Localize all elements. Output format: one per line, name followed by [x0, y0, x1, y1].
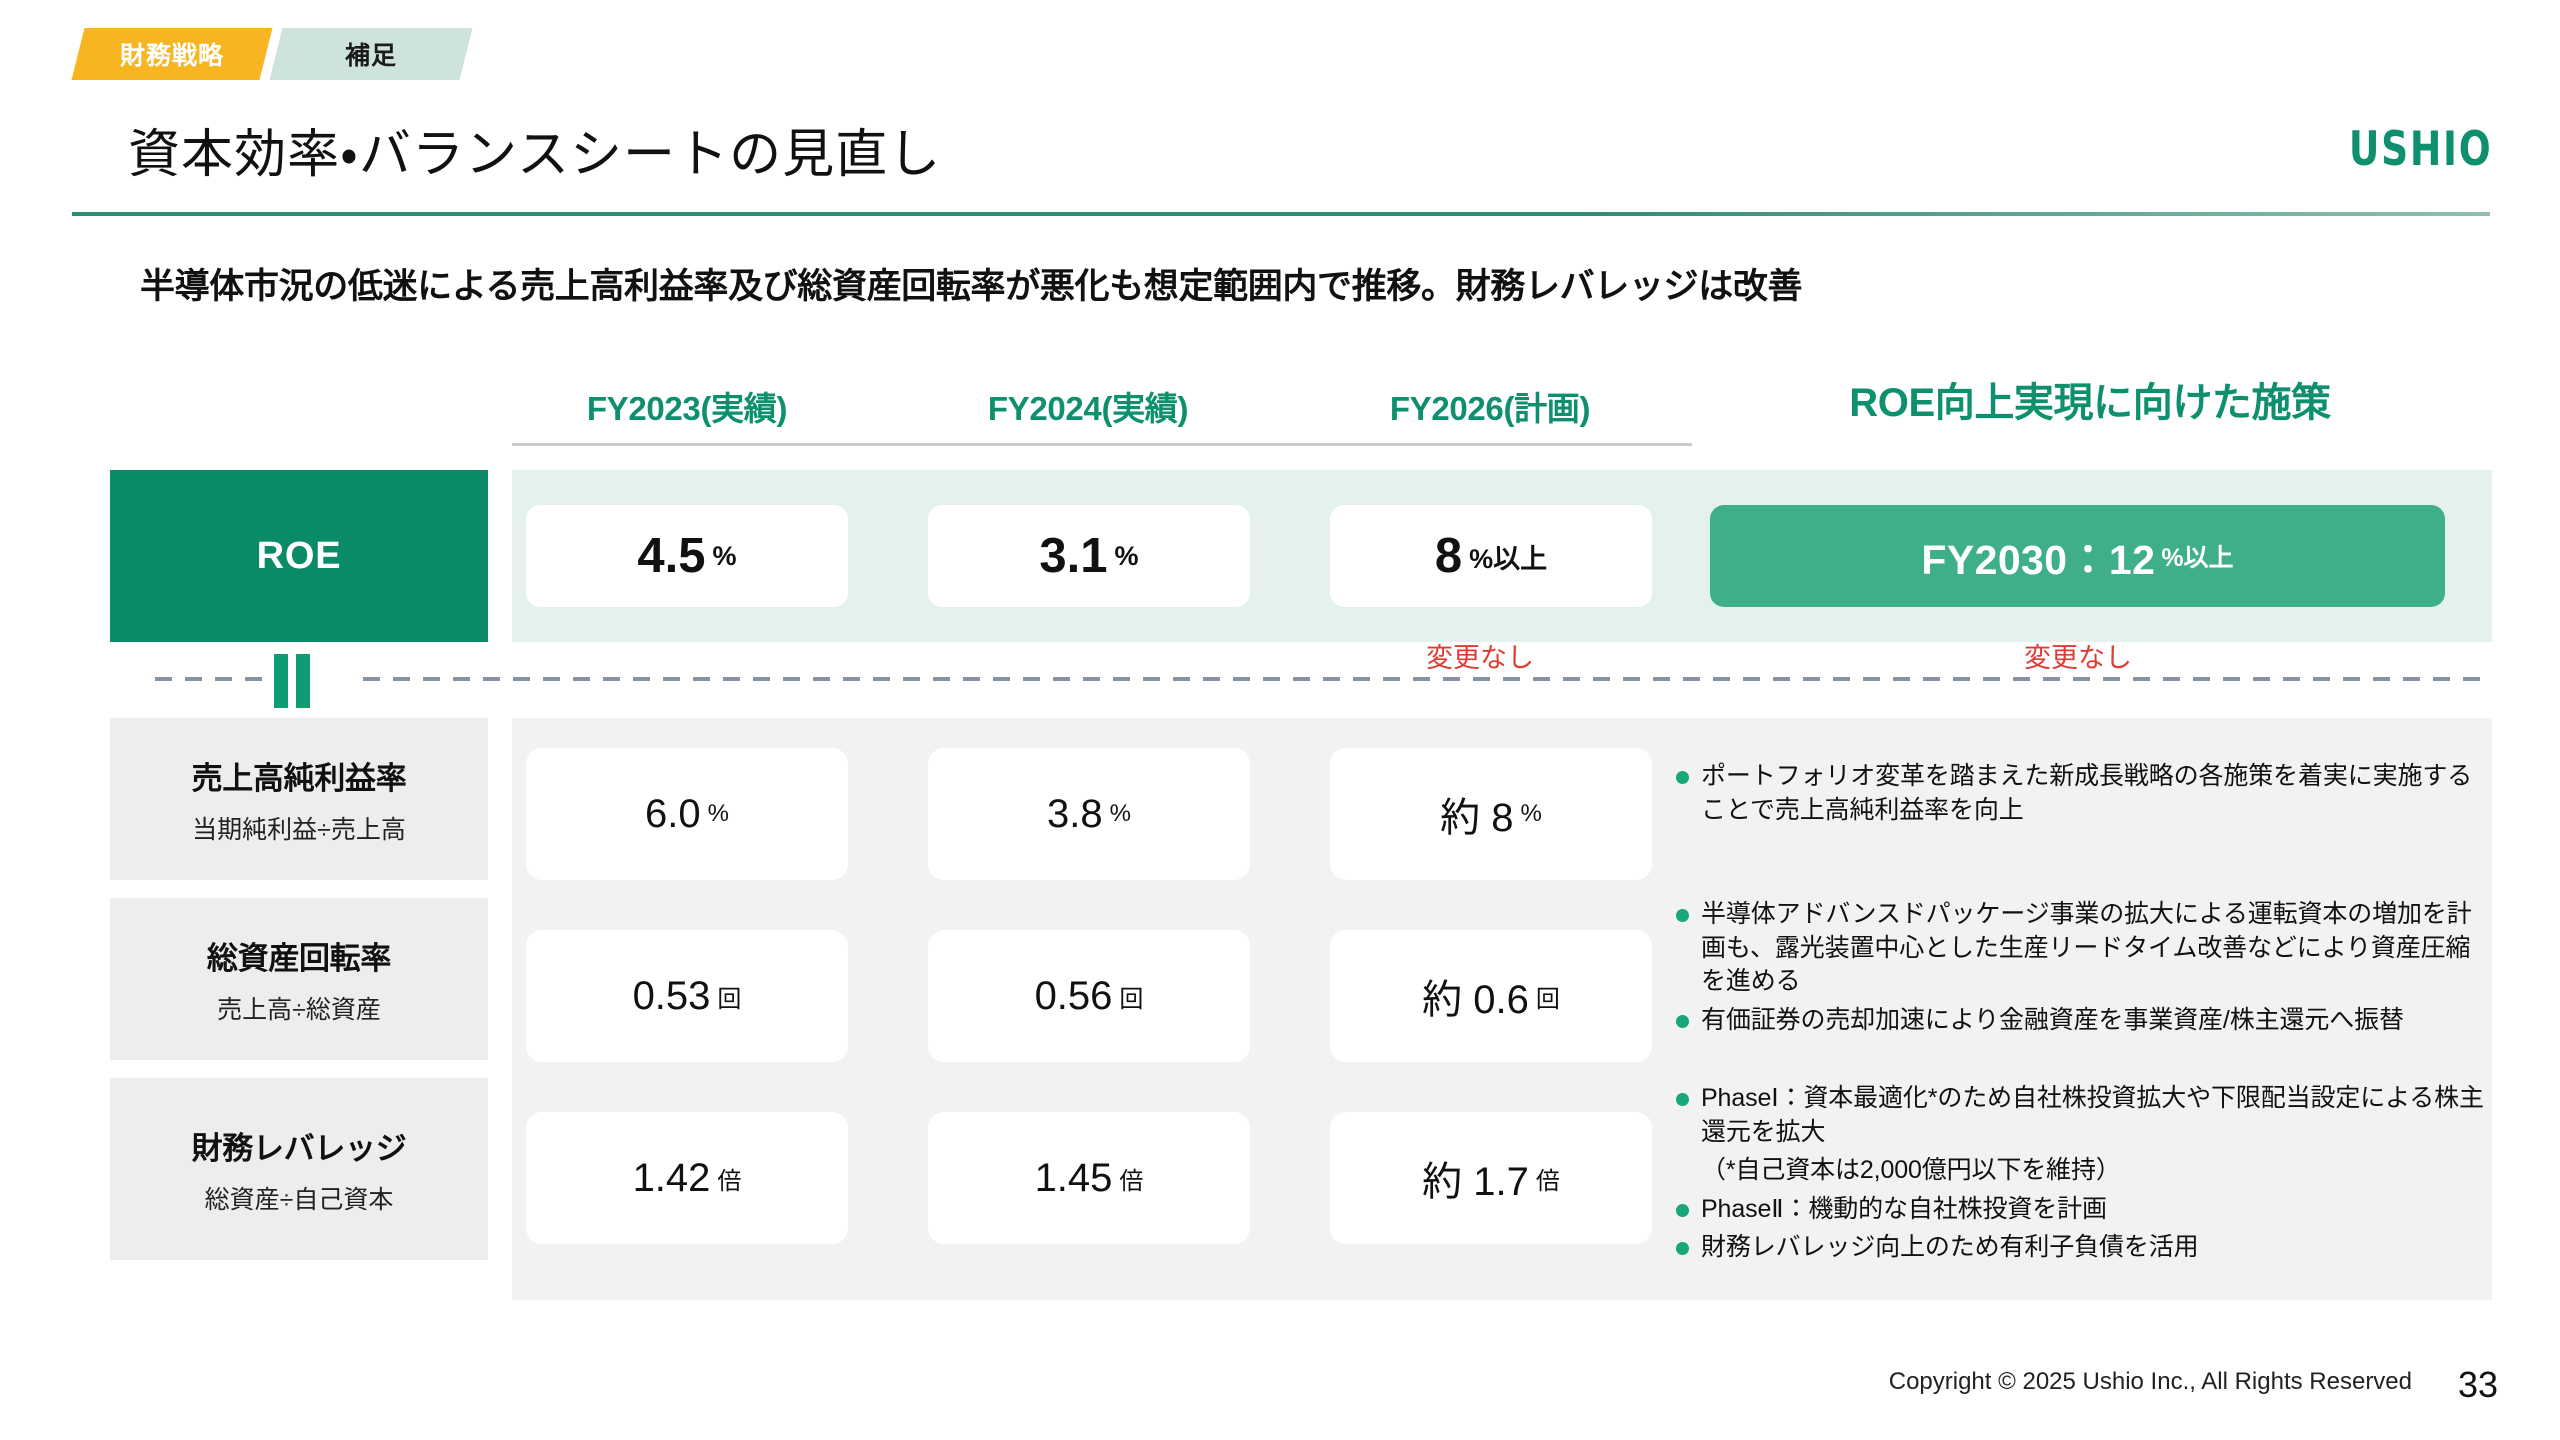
roe-value-fy2023-number: 4.5 [637, 528, 705, 584]
metric-box-asset-turnover-name: 総資産回転率 [207, 933, 391, 978]
lead-statement: 半導体市況の低迷による売上高利益率及び総資産回転率が悪化も想定範囲内で推移。財務… [140, 258, 1802, 309]
grid-cell-unit: 倍 [717, 1161, 741, 1196]
roe-value-fy2023: 4.5 % [526, 505, 848, 607]
list-item-text: （*自己資本は2,000億円以下を維持） [1701, 1154, 2121, 1188]
grid-cell: 6.0 % [526, 748, 848, 880]
tab-financial-strategy-label: 財務戦略 [120, 36, 224, 72]
grid-cell-value: 3.8 [1047, 792, 1103, 837]
grid-cell-unit: 回 [717, 979, 741, 1014]
nochange-note-plan: 変更なし [1330, 636, 1630, 675]
fy2030-goal-card: FY2030：12 %以上 [1710, 505, 2445, 607]
grid-cell-unit: % [1110, 800, 1131, 828]
measures-heading: ROE向上実現に向けた施策 [1690, 370, 2490, 428]
roe-value-fy2026-unit: %以上 [1469, 537, 1547, 576]
metric-box-net-margin-name: 売上高純利益率 [192, 753, 407, 798]
list-item: PhaseⅠ：資本最適化*のため自社株投資拡大や下限配当設定による株主還元を拡大 [1676, 1082, 2486, 1149]
nochange-note-goal: 変更なし [1928, 636, 2228, 675]
grid-cell: 約 1.7 倍 [1330, 1112, 1652, 1244]
roe-value-fy2026: 8 %以上 [1330, 505, 1652, 607]
tab-financial-strategy[interactable]: 財務戦略 [72, 28, 273, 80]
roe-label-text: ROE [257, 535, 342, 578]
bullet-dot-icon [1676, 771, 1689, 784]
metric-box-net-margin-formula: 当期純利益÷売上高 [192, 810, 406, 846]
grid-cell-value: 0.53 [633, 974, 711, 1019]
tab-supplement-label: 補足 [345, 36, 397, 72]
roe-value-fy2024-unit: % [1115, 541, 1139, 572]
page-title: 資本効率・バランスシートの見直し [128, 112, 941, 187]
grid-cell-value: 約 0.6 [1422, 967, 1529, 1025]
measure-list-asset-turnover: 半導体アドバンスドパッケージ事業の拡大による運転資本の増加を計画も、露光装置中心… [1676, 898, 2486, 1042]
list-item-text: ポートフォリオ変革を踏まえた新成長戦略の各施策を着実に実施することで売上高純利益… [1701, 760, 2486, 827]
grid-cell-unit: 回 [1536, 979, 1560, 1014]
list-item-text: 財務レバレッジ向上のため有利子負債を活用 [1701, 1231, 2199, 1265]
column-header-divider [512, 443, 1692, 446]
category-tabs: 財務戦略 補足 [78, 28, 466, 80]
bullet-dot-icon [1676, 909, 1689, 922]
roe-value-fy2024: 3.1 % [928, 505, 1250, 607]
bullet-dot-icon [1676, 1242, 1689, 1255]
grid-cell-unit: 倍 [1119, 1161, 1143, 1196]
roe-value-fy2023-unit: % [713, 541, 737, 572]
list-item: PhaseⅡ：機動的な自社株投資を計画 [1676, 1193, 2486, 1227]
fy2030-goal-unit: %以上 [2161, 538, 2233, 574]
grid-cell-value: 約 1.7 [1422, 1149, 1529, 1207]
roe-label-block: ROE [110, 470, 488, 642]
bullet-dot-icon [1676, 1204, 1689, 1217]
column-header-fy2023: FY2023(実績) [537, 382, 837, 430]
slide-root: 財務戦略 補足 資本効率・バランスシートの見直し USHIO 半導体市況の低迷に… [0, 0, 2560, 1440]
copyright-text: Copyright © 2025 Ushio Inc., All Rights … [1889, 1368, 2412, 1396]
title-divider [72, 212, 2490, 216]
column-header-fy2024: FY2024(実績) [938, 382, 1238, 430]
grid-cell: 0.56 回 [928, 930, 1250, 1062]
divider-dash-left [155, 677, 267, 681]
measure-list-net-margin: ポートフォリオ変革を踏まえた新成長戦略の各施策を着実に実施することで売上高純利益… [1676, 760, 2486, 832]
metric-box-asset-turnover: 総資産回転率 売上高÷総資産 [110, 898, 488, 1060]
bullet-dot-icon [1676, 1015, 1689, 1028]
measure-list-leverage: PhaseⅠ：資本最適化*のため自社株投資拡大や下限配当設定による株主還元を拡大… [1676, 1082, 2486, 1270]
grid-cell: 約 8 % [1330, 748, 1652, 880]
metric-box-leverage: 財務レバレッジ 総資産÷自己資本 [110, 1078, 488, 1260]
grid-cell: 約 0.6 回 [1330, 930, 1652, 1062]
grid-cell: 1.45 倍 [928, 1112, 1250, 1244]
grid-cell: 1.42 倍 [526, 1112, 848, 1244]
grid-cell-unit: 倍 [1536, 1161, 1560, 1196]
metric-box-leverage-name: 財務レバレッジ [192, 1123, 407, 1168]
grid-cell-value: 約 8 [1440, 785, 1513, 843]
list-item: 財務レバレッジ向上のため有利子負債を活用 [1676, 1231, 2486, 1265]
list-item-text: 有価証券の売却加速により金融資産を事業資産/株主還元へ振替 [1701, 1004, 2404, 1038]
list-item: ポートフォリオ変革を踏まえた新成長戦略の各施策を着実に実施することで売上高純利益… [1676, 760, 2486, 827]
grid-cell-value: 0.56 [1035, 974, 1113, 1019]
list-item: 有価証券の売却加速により金融資産を事業資産/株主還元へ振替 [1676, 1004, 2486, 1038]
page-number: 33 [2458, 1364, 2498, 1406]
list-item: 半導体アドバンスドパッケージ事業の拡大による運転資本の増加を計画も、露光装置中心… [1676, 898, 2486, 999]
roe-value-fy2024-number: 3.1 [1039, 528, 1107, 584]
column-header-fy2026: FY2026(計画) [1340, 382, 1640, 430]
grid-cell-value: 6.0 [645, 792, 701, 837]
list-item-note: （*自己資本は2,000億円以下を維持） [1676, 1154, 2486, 1188]
grid-cell-unit: % [708, 800, 729, 828]
divider-dash-right [363, 677, 2485, 681]
decomposition-divider [155, 677, 2485, 681]
equals-icon [272, 654, 314, 708]
fy2030-goal-text: FY2030：12 [1921, 526, 2155, 586]
list-item-text: PhaseⅠ：資本最適化*のため自社株投資拡大や下限配当設定による株主還元を拡大 [1701, 1082, 2486, 1149]
metric-box-net-margin: 売上高純利益率 当期純利益÷売上高 [110, 718, 488, 880]
grid-cell-value: 1.45 [1035, 1156, 1113, 1201]
bullet-dot-icon [1676, 1093, 1689, 1106]
list-item-text: PhaseⅡ：機動的な自社株投資を計画 [1701, 1193, 2107, 1227]
grid-cell-value: 1.42 [633, 1156, 711, 1201]
roe-value-fy2026-number: 8 [1435, 528, 1462, 584]
list-item-text: 半導体アドバンスドパッケージ事業の拡大による運転資本の増加を計画も、露光装置中心… [1701, 898, 2486, 999]
grid-cell: 3.8 % [928, 748, 1250, 880]
metric-box-leverage-formula: 総資産÷自己資本 [205, 1180, 394, 1216]
grid-cell-unit: % [1521, 800, 1542, 828]
tab-supplement[interactable]: 補足 [270, 28, 473, 80]
ushio-logo: USHIO [2349, 122, 2493, 177]
grid-cell-unit: 回 [1119, 979, 1143, 1014]
grid-cell: 0.53 回 [526, 930, 848, 1062]
metric-box-asset-turnover-formula: 売上高÷総資産 [217, 990, 381, 1026]
